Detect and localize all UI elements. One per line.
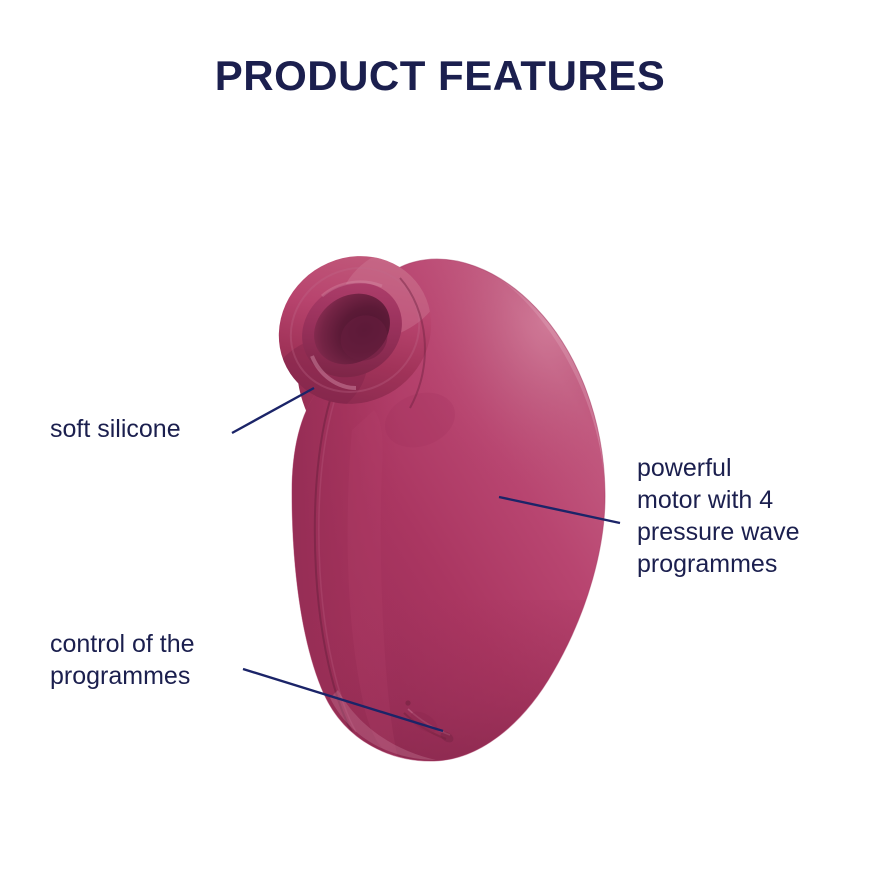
callout-powerful-motor-line-4: programmes [637,548,800,580]
callout-powerful-motor-line-1: powerful [637,452,800,484]
leader-line-soft-silicone [232,388,314,433]
callout-soft-silicone-line-1: soft silicone [50,413,181,445]
callout-control-programmes: control of the programmes [50,628,195,692]
leader-line-powerful-motor [499,497,620,523]
callout-powerful-motor: powerful motor with 4 pressure wave prog… [637,452,800,580]
callout-soft-silicone: soft silicone [50,413,181,445]
callout-control-line-1: control of the [50,628,195,660]
callout-control-line-2: programmes [50,660,195,692]
product-features-infographic: PRODUCT FEATURES [0,0,880,880]
leader-line-control-programmes [243,669,443,731]
callout-powerful-motor-line-2: motor with 4 [637,484,800,516]
callout-powerful-motor-line-3: pressure wave [637,516,800,548]
